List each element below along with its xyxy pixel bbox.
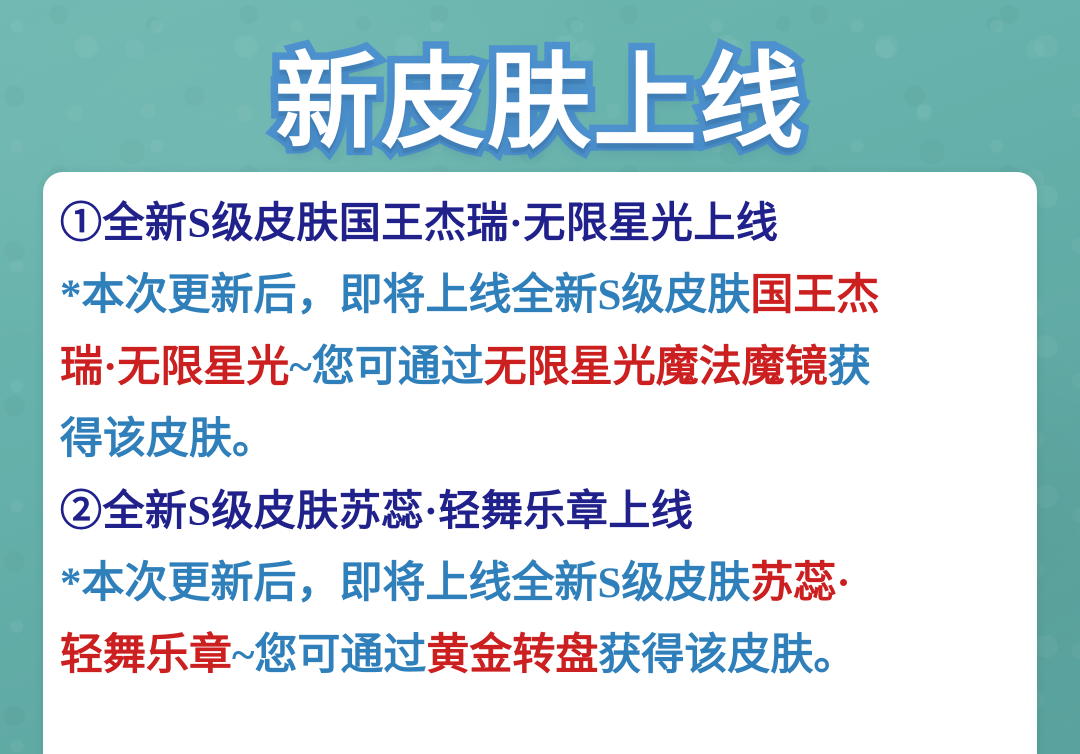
- announcement-line: ①全新S级皮肤国王杰瑞·无限星光上线: [60, 188, 1027, 260]
- title-banner: 新皮肤上线: [0, 44, 1080, 160]
- announcement-text-segment: 获: [828, 344, 871, 391]
- announcement-poster: 新皮肤上线 ①全新S级皮肤国王杰瑞·无限星光上线*本次更新后，即将上线全新S级皮…: [0, 0, 1080, 754]
- announcement-line: 瑞·无限星光~您可通过无限星光魔法魔镜获: [60, 332, 1027, 404]
- announcement-text-segment: ②全新S级皮肤苏蕊·轻舞乐章上线: [60, 489, 693, 535]
- announcement-line: 得该皮肤。: [60, 404, 1027, 476]
- announcement-text-segment: *本次更新后，即将上线全新S级皮肤: [60, 272, 750, 319]
- announcement-text-segment: 轻舞乐章: [60, 632, 232, 679]
- announcement-text-segment: 获得该皮肤。: [598, 632, 856, 679]
- announcement-text-segment: *本次更新后，即将上线全新S级皮肤: [60, 560, 750, 607]
- page-title: 新皮肤上线: [275, 44, 805, 160]
- announcement-text-segment: ①全新S级皮肤国王杰瑞·无限星光上线: [60, 201, 778, 247]
- announcement-text-segment: 黄金转盘: [426, 632, 598, 679]
- announcement-text-segment: ~您可通过: [232, 632, 426, 679]
- announcement-text-segment: 瑞·无限星光: [60, 344, 289, 391]
- announcement-text-segment: 无限星光魔法魔镜: [484, 344, 828, 391]
- announcement-text-segment: 国王杰: [750, 272, 879, 319]
- announcement-text-segment: 得该皮肤。: [60, 416, 275, 463]
- announcement-text-segment: 苏蕊·: [750, 560, 850, 607]
- announcement-line: *本次更新后，即将上线全新S级皮肤苏蕊·: [60, 548, 1027, 620]
- announcement-line: ②全新S级皮肤苏蕊·轻舞乐章上线: [60, 476, 1027, 548]
- announcement-line: *本次更新后，即将上线全新S级皮肤国王杰: [60, 260, 1027, 332]
- announcement-body: ①全新S级皮肤国王杰瑞·无限星光上线*本次更新后，即将上线全新S级皮肤国王杰瑞·…: [60, 188, 1027, 692]
- announcement-text-segment: ~您可通过: [289, 344, 483, 391]
- announcement-line: 轻舞乐章~您可通过黄金转盘获得该皮肤。: [60, 620, 1027, 692]
- content-card: ①全新S级皮肤国王杰瑞·无限星光上线*本次更新后，即将上线全新S级皮肤国王杰瑞·…: [43, 172, 1037, 754]
